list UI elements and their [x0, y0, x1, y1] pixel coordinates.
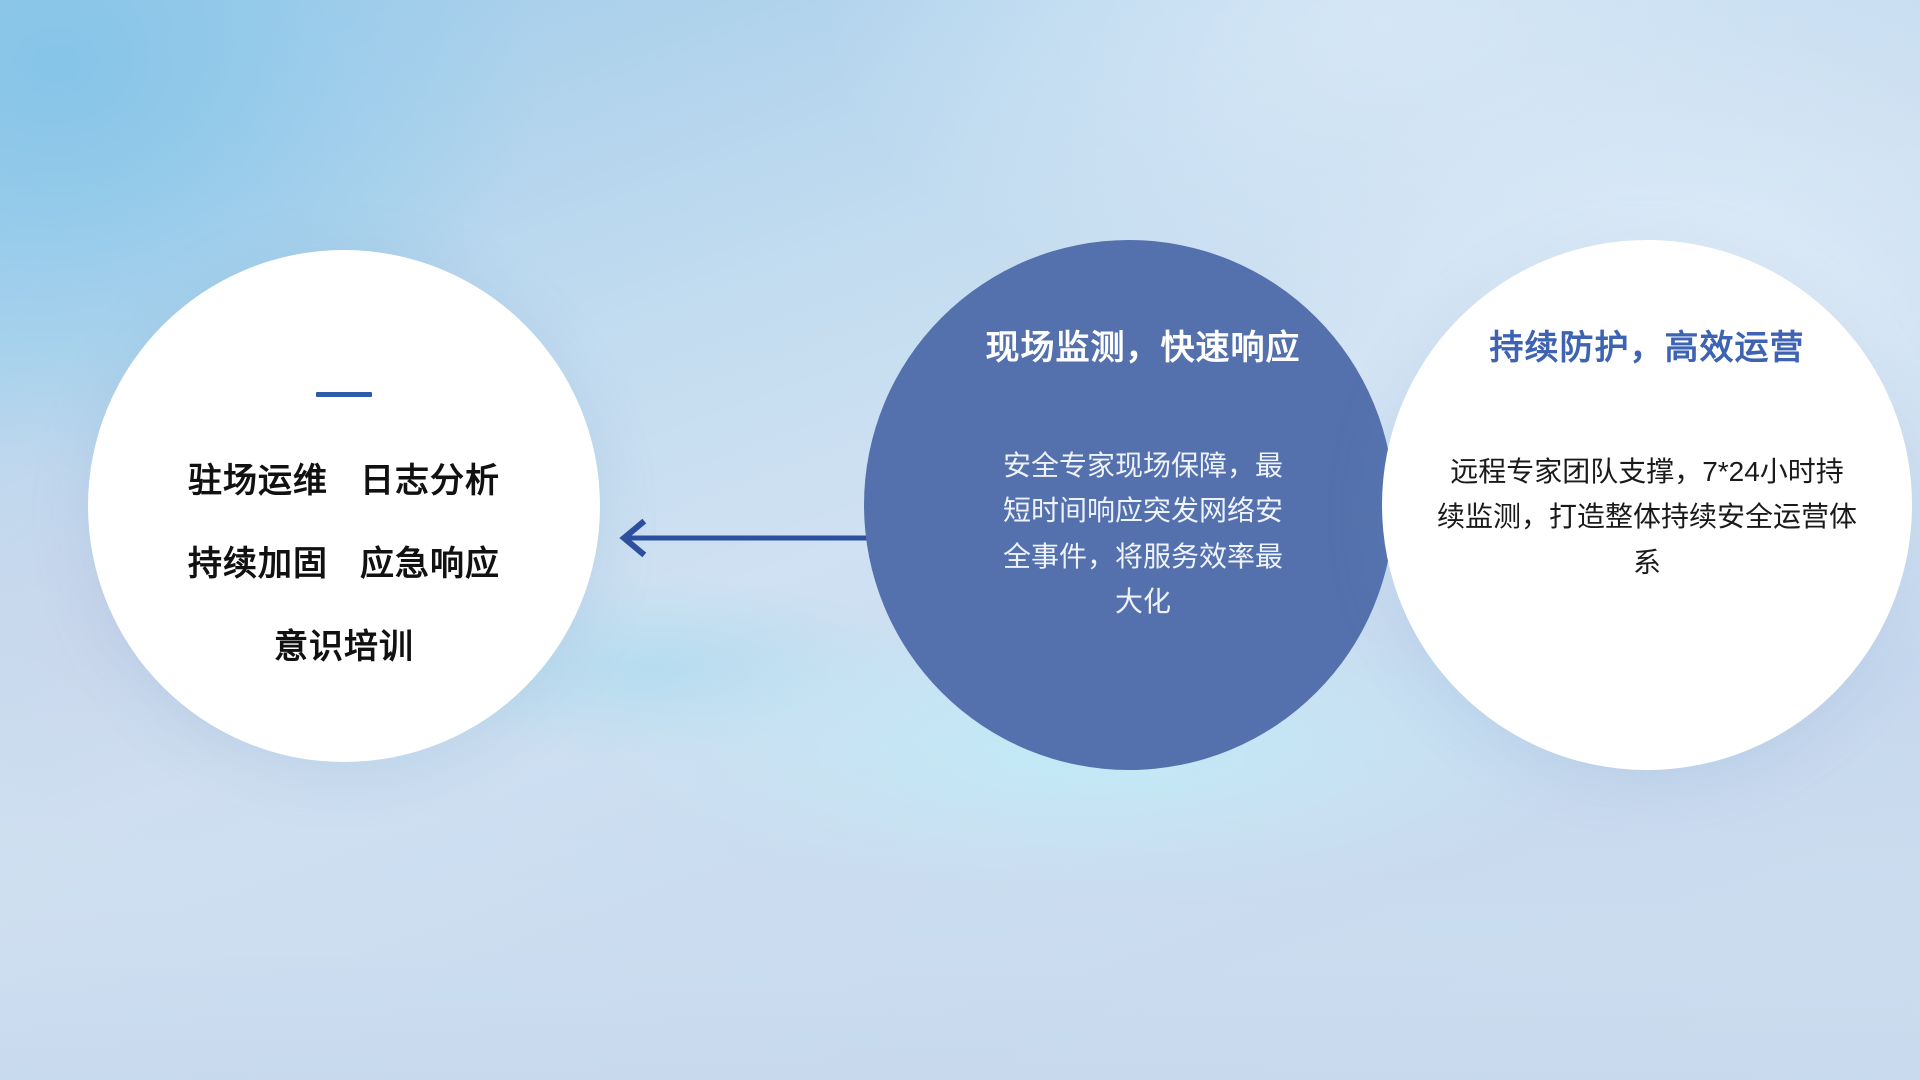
left-card-tag: 日志分析 — [360, 453, 500, 502]
center-card-body: 安全专家现场保障，最短时间响应突发网络安全事件，将服务效率最大化 — [993, 443, 1293, 624]
left-card-tag: 持续加固 — [188, 536, 328, 585]
right-card: 持续防护，高效运营 远程专家团队支撑，7*24小时持续监测，打造整体持续安全运营… — [1382, 240, 1912, 770]
left-card-tag-list: 驻场运维 日志分析 持续加固 应急响应 意识培训 — [188, 453, 500, 668]
left-card-tag: 驻场运维 — [188, 453, 328, 502]
slide-canvas: 现场监测，快速响应 安全专家现场保障，最短时间响应突发网络安全事件，将服务效率最… — [0, 0, 1920, 1080]
left-card-tag: 意识培训 — [274, 619, 414, 668]
arrow-left-icon — [600, 518, 876, 558]
left-card-row: 持续加固 应急响应 — [188, 536, 500, 585]
right-card-body: 远程专家团队支撑，7*24小时持续监测，打造整体持续安全运营体系 — [1437, 449, 1857, 585]
center-card: 现场监测，快速响应 安全专家现场保障，最短时间响应突发网络安全事件，将服务效率最… — [864, 240, 1394, 770]
left-card: 驻场运维 日志分析 持续加固 应急响应 意识培训 — [88, 250, 600, 762]
right-card-title: 持续防护，高效运营 — [1490, 320, 1805, 369]
connector-arrow — [600, 518, 876, 558]
left-card-divider — [316, 392, 372, 397]
left-card-row: 驻场运维 日志分析 — [188, 453, 500, 502]
center-card-title: 现场监测，快速响应 — [863, 320, 1423, 369]
left-card-row: 意识培训 — [274, 619, 414, 668]
left-card-tag: 应急响应 — [360, 536, 500, 585]
